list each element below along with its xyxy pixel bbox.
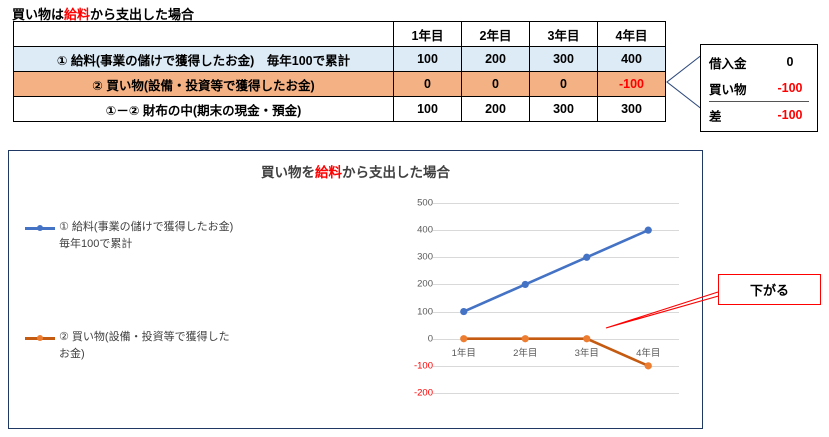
chart-title: 買い物を給料から支出した場合 xyxy=(9,161,702,181)
y-axis-tick-label: 400 xyxy=(393,225,433,236)
chart-title-post: から支出した場合 xyxy=(342,165,450,180)
y-axis-tick-label: 0 xyxy=(393,333,433,344)
cashflow-table: 1年目 2年目 3年目 4年目 ① 給料(事業の儲けで獲得したお金) 毎年100… xyxy=(13,21,666,122)
slide-canvas: 買い物は給料から支出した場合 1年目 2年目 3年目 4年目 ① 給料(事業の儲… xyxy=(0,0,829,437)
cell-purchase-y4: -100 xyxy=(598,72,666,97)
cell-wallet-y4: 300 xyxy=(598,97,666,122)
chart-title-pre: 買い物を xyxy=(261,165,315,180)
summary-value-loan: 0 xyxy=(771,55,809,69)
header-cell-year3: 3年目 xyxy=(530,22,598,47)
table-header-row: 1年目 2年目 3年目 4年目 xyxy=(14,22,666,47)
cell-purchase-y2: 0 xyxy=(462,72,530,97)
table-row-purchase: ② 買い物(設備・投資等で獲得したお金) 0 0 0 -100 xyxy=(14,72,666,97)
table-row-wallet: ①－② 財布の中(期末の現金・預金) 100 200 300 300 xyxy=(14,97,666,122)
page-title-highlight: 給料 xyxy=(64,7,90,22)
legend-marker-purchase xyxy=(25,335,55,340)
page-title-pre: 買い物は xyxy=(12,7,64,22)
y-axis-tick-label: -100 xyxy=(393,360,433,371)
legend-label-purchase-line2: お金) xyxy=(59,346,230,363)
header-cell-year2: 2年目 xyxy=(462,22,530,47)
cell-wallet-y1: 100 xyxy=(394,97,462,122)
legend-item-purchase: ② 買い物(設備・投資等で獲得した お金) xyxy=(25,329,230,363)
row-label-salary: ① 給料(事業の儲けで獲得したお金) 毎年100で累計 xyxy=(14,47,394,72)
annotation-box: 下がる xyxy=(718,274,821,305)
page-title-post: から支出した場合 xyxy=(90,7,194,22)
cell-purchase-y1: 0 xyxy=(394,72,462,97)
x-axis-tick-label: 3年目 xyxy=(575,345,599,359)
cell-wallet-y2: 200 xyxy=(462,97,530,122)
legend-label-salary-line1: ① 給料(事業の儲けで獲得したお金) xyxy=(59,219,233,236)
chart-container: 買い物を給料から支出した場合 ① 給料(事業の儲けで獲得したお金) 毎年100で… xyxy=(8,150,703,429)
summary-box: 借入金 0 買い物 -100 差 -100 xyxy=(700,44,818,132)
row-label-wallet: ①－② 財布の中(期末の現金・預金) xyxy=(14,97,394,122)
legend-item-salary: ① 給料(事業の儲けで獲得したお金) 毎年100で累計 xyxy=(25,219,233,253)
cell-salary-y2: 200 xyxy=(462,47,530,72)
cell-salary-y1: 100 xyxy=(394,47,462,72)
cell-salary-y4: 400 xyxy=(598,47,666,72)
header-cell-year1: 1年目 xyxy=(394,22,462,47)
y-axis-tick-label: 100 xyxy=(393,306,433,317)
y-axis-tick-label: 200 xyxy=(393,279,433,290)
summary-row-difference: 差 -100 xyxy=(709,101,809,128)
cell-salary-y3: 300 xyxy=(530,47,598,72)
chart-title-highlight: 給料 xyxy=(315,165,342,180)
x-axis-tick-label: 1年目 xyxy=(452,345,476,359)
legend-marker-salary xyxy=(25,225,55,230)
row-label-purchase: ② 買い物(設備・投資等で獲得したお金) xyxy=(14,72,394,97)
y-axis-tick-label: 300 xyxy=(393,252,433,263)
table-row-salary: ① 給料(事業の儲けで獲得したお金) 毎年100で累計 100 200 300 … xyxy=(14,47,666,72)
summary-key-difference: 差 xyxy=(709,106,722,125)
annotation-label: 下がる xyxy=(750,280,789,299)
header-cell-blank xyxy=(14,22,394,47)
cell-purchase-y3: 0 xyxy=(530,72,598,97)
summary-value-purchase: -100 xyxy=(771,81,809,95)
x-axis-tick-label: 2年目 xyxy=(513,345,537,359)
cell-wallet-y3: 300 xyxy=(530,97,598,122)
y-axis-tick-label: -200 xyxy=(393,388,433,399)
y-axis-tick-label: 500 xyxy=(393,198,433,209)
x-axis-tick-label: 4年目 xyxy=(636,345,660,359)
summary-key-purchase: 買い物 xyxy=(709,79,747,98)
summary-row-purchase: 買い物 -100 xyxy=(709,75,809,101)
header-cell-year4: 4年目 xyxy=(598,22,666,47)
summary-value-difference: -100 xyxy=(771,108,809,122)
summary-row-loan: 借入金 0 xyxy=(709,49,809,75)
summary-key-loan: 借入金 xyxy=(709,53,747,72)
gridline xyxy=(433,393,679,394)
legend-label-purchase-line1: ② 買い物(設備・投資等で獲得した xyxy=(59,329,230,346)
legend-label-salary-line2: 毎年100で累計 xyxy=(59,236,233,253)
